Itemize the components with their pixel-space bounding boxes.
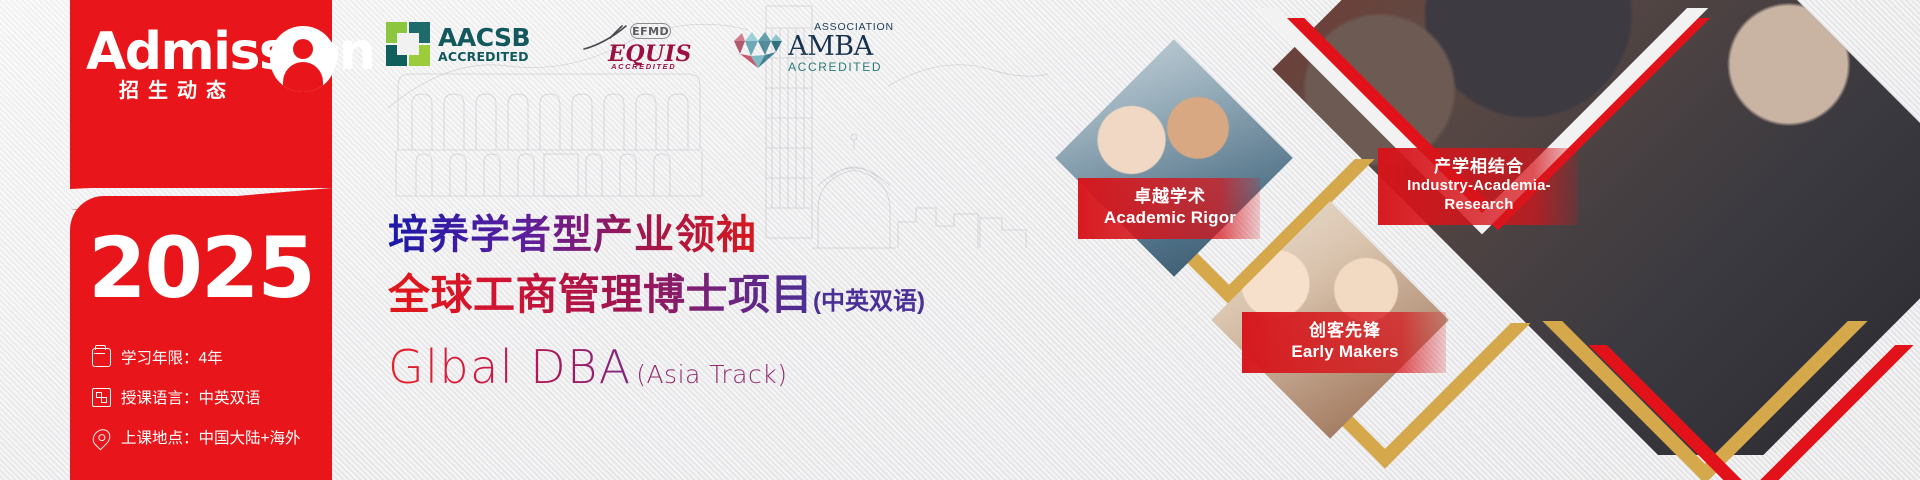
person-head-shape: [293, 39, 313, 59]
calendar-icon: [92, 348, 111, 367]
program-info-list: 学习年限：4年 授课语言：中英双语 上课地点：中国大陆+海外: [92, 346, 332, 466]
label-early-makers: 创客先锋 Early Makers: [1242, 312, 1446, 373]
admission-chinese-label: 招生动态: [119, 74, 235, 103]
label-industry-academia: 产学相结合 Industry-Academia-Research: [1378, 148, 1578, 225]
info-row-location: 上课地点：中国大陆+海外: [92, 426, 332, 448]
year-info-card: 2025 学习年限：4年 授课语言：中英双语 上课地点：中国大陆+海外: [70, 196, 332, 480]
info-row-duration: 学习年限：4年: [92, 346, 332, 368]
program-cn-note: (中英双语): [813, 288, 925, 315]
program-name-en: Glbal DBA (Asia Track): [388, 340, 1008, 406]
language-icon: [92, 388, 111, 407]
tagline-headline: 培养学者型产业领袖: [388, 212, 1008, 258]
photo-collage: 卓越学术 Academic Rigor 产学相结合 Industry-Acade…: [1030, 0, 1920, 480]
left-red-panel: Admission 招生动态 2025 学习年限：4年 授课语言：中英双语: [70, 0, 332, 480]
info-label-duration: 学习年限：4年: [121, 346, 223, 368]
label-industry-academia-en: Industry-Academia-Research: [1396, 177, 1562, 215]
headline-group: 培养学者型产业领袖 全球工商管理博士项目(中英双语) Glbal DBA (As…: [388, 212, 1008, 406]
person-body-shape: [283, 62, 323, 92]
label-early-makers-cn: 创客先锋: [1260, 320, 1430, 341]
year-value: 2025: [88, 219, 314, 317]
info-label-location: 上课地点：中国大陆+海外: [121, 426, 301, 448]
program-name-cn: 全球工商管理博士项目(中英双语): [388, 270, 1008, 330]
label-academic-rigor-en: Academic Rigor: [1096, 207, 1244, 228]
label-early-makers-en: Early Makers: [1260, 341, 1430, 362]
info-label-language: 授课语言：中英双语: [121, 386, 261, 408]
admission-logo: Admission 招生动态: [86, 24, 332, 122]
label-academic-rigor-cn: 卓越学术: [1096, 186, 1244, 207]
person-circle-icon: [270, 26, 336, 92]
label-academic-rigor: 卓越学术 Academic Rigor: [1078, 178, 1260, 239]
label-industry-academia-cn: 产学相结合: [1396, 156, 1562, 177]
info-row-language: 授课语言：中英双语: [92, 386, 332, 408]
year-label: 2025: [70, 224, 332, 312]
program-en-note: (Asia Track): [636, 360, 787, 389]
location-pin-icon: [89, 425, 114, 450]
program-cn-text: 全球工商管理博士项目: [388, 271, 813, 318]
admission-banner: Admission 招生动态 2025 学习年限：4年 授课语言：中英双语: [0, 0, 1920, 480]
program-en-text: Glbal DBA: [388, 340, 632, 394]
